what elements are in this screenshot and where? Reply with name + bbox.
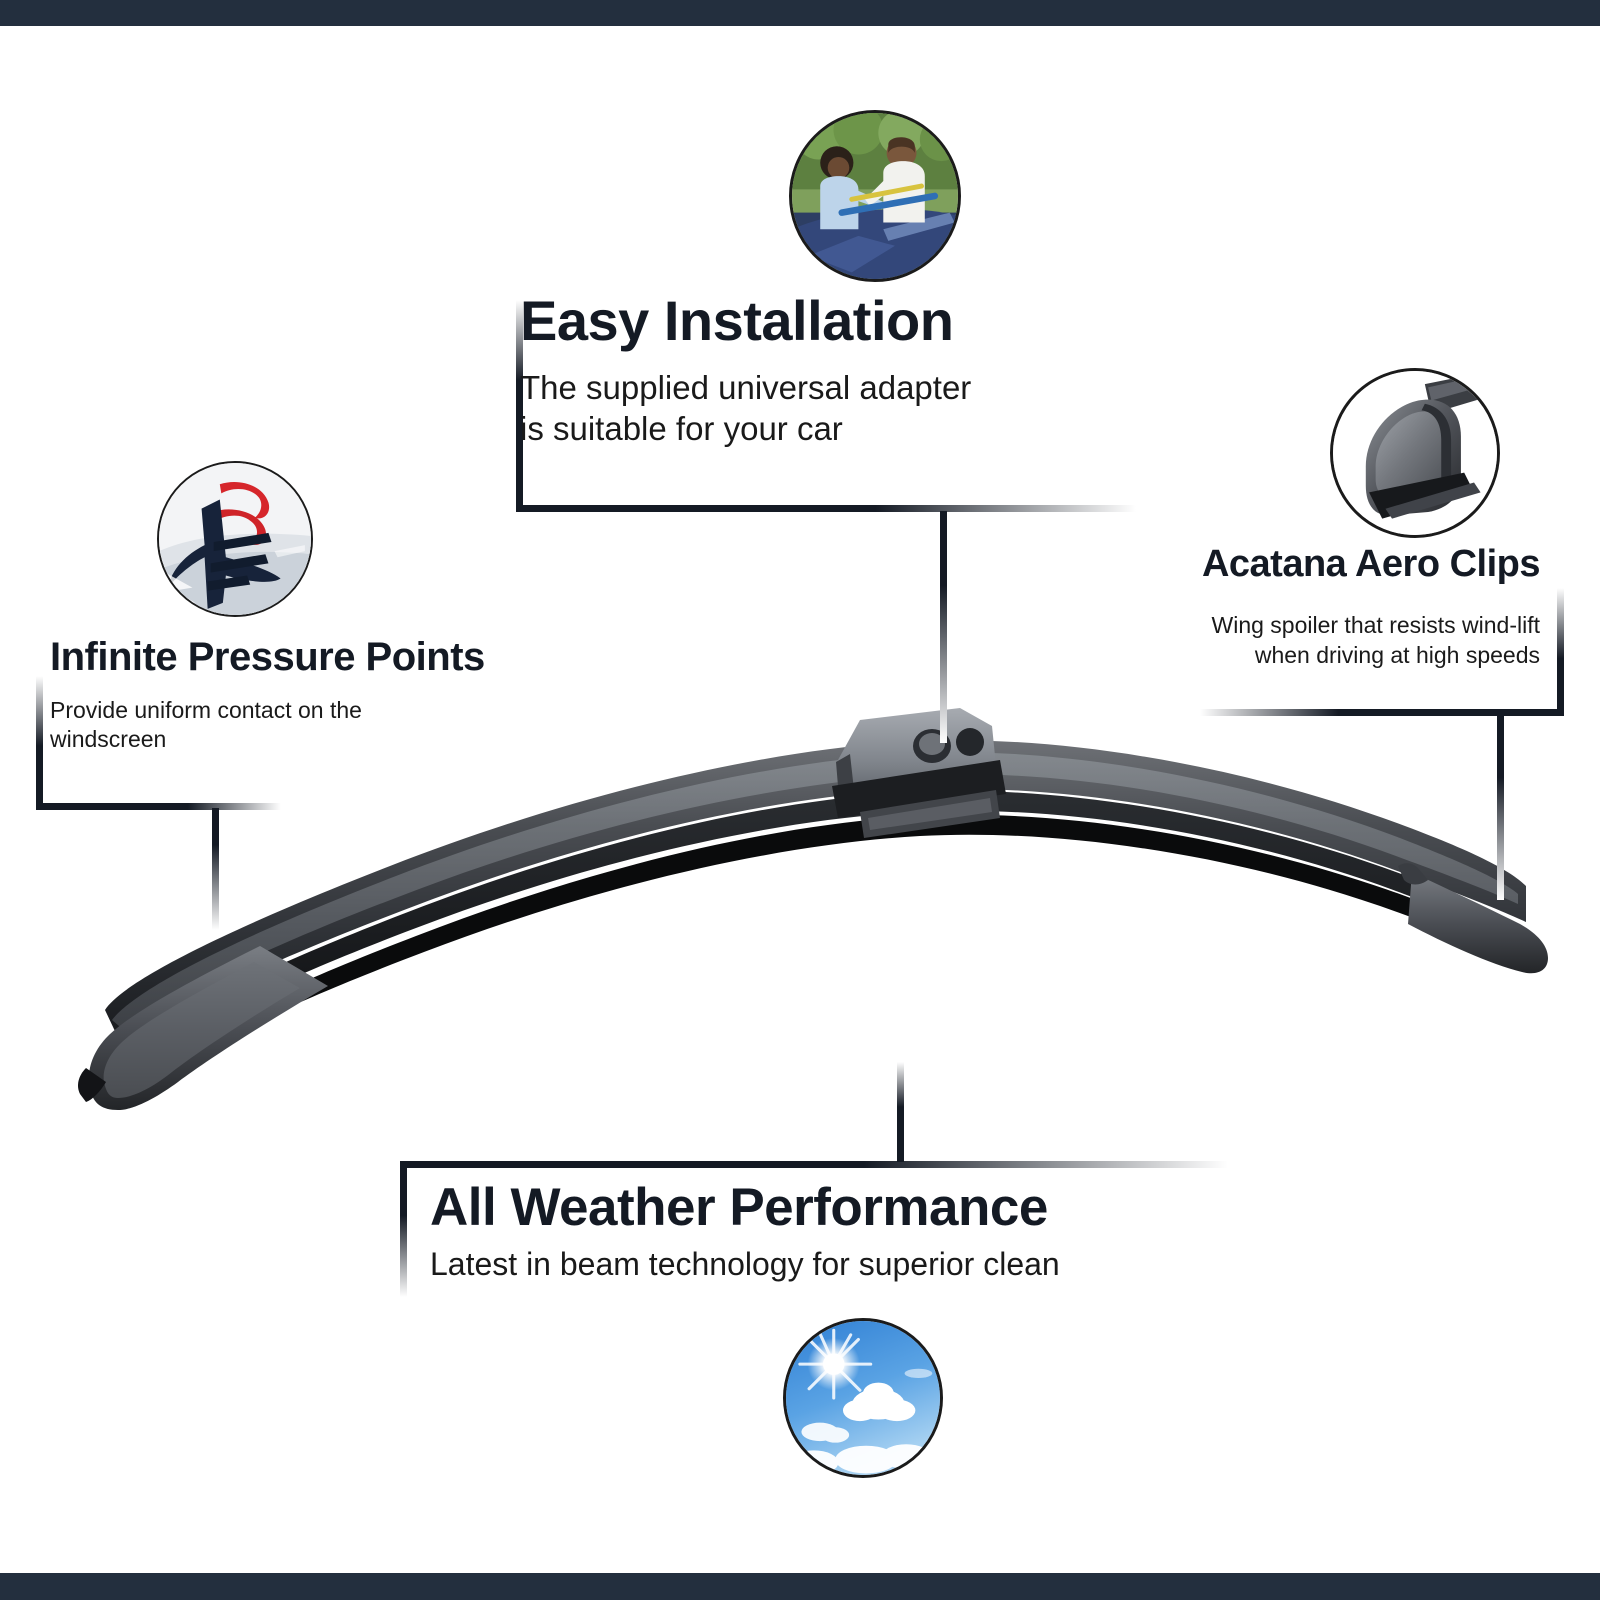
sunny-sky-icon — [783, 1318, 943, 1478]
installation-photo-icon — [789, 110, 961, 282]
all-weather-bracket-vertical — [400, 1161, 407, 1297]
infographic-page: Easy Installation The supplied universal… — [0, 0, 1600, 1600]
infinite-pressure-bracket-horizontal — [36, 803, 281, 810]
feature-body-line-2: is suitable for your car — [520, 408, 1160, 449]
feature-body-easy-installation: The supplied universal adapter is suitab… — [520, 367, 1160, 450]
feature-body-line-1: Wing spoiler that resists wind-lift — [1040, 611, 1540, 641]
feature-body-line-2: windscreen — [50, 725, 690, 754]
infinite-pressure-leader-line — [212, 808, 219, 930]
feature-heading-all-weather-performance: All Weather Performance — [430, 1180, 1310, 1236]
all-weather-leader-line — [897, 1062, 904, 1162]
pressure-diagram-icon — [157, 461, 313, 617]
feature-heading-easy-installation: Easy Installation — [520, 292, 1160, 351]
feature-easy-installation: Easy Installation The supplied universal… — [520, 292, 1160, 449]
top-accent-bar — [0, 0, 1600, 26]
feature-body-line-1: The supplied universal adapter — [520, 367, 1160, 408]
feature-body-infinite-pressure-points: Provide uniform contact on the windscree… — [50, 696, 690, 754]
infinite-pressure-bracket-vertical — [36, 676, 43, 810]
aero-clip-closeup-icon — [1330, 368, 1500, 538]
feature-all-weather-performance: All Weather Performance Latest in beam t… — [430, 1180, 1310, 1284]
feature-body-all-weather-performance: Latest in beam technology for superior c… — [430, 1244, 1310, 1284]
feature-heading-infinite-pressure-points: Infinite Pressure Points — [50, 636, 690, 678]
feature-body-line-1: Provide uniform contact on the — [50, 696, 690, 725]
feature-infinite-pressure-points: Infinite Pressure Points Provide uniform… — [50, 636, 690, 754]
bottom-accent-bar — [0, 1573, 1600, 1600]
easy-installation-bracket-horizontal — [516, 505, 1136, 512]
aero-clips-leader-line — [1497, 714, 1504, 900]
all-weather-bracket-horizontal — [400, 1161, 1228, 1168]
easy-installation-leader-line — [940, 511, 947, 743]
aero-clips-bracket-vertical — [1557, 588, 1564, 716]
feature-acatana-aero-clips: Acatana Aero Clips Wing spoiler that res… — [1040, 545, 1540, 671]
feature-body-acatana-aero-clips: Wing spoiler that resists wind-lift when… — [1040, 611, 1540, 671]
feature-body-line-2: when driving at high speeds — [1040, 641, 1540, 671]
aero-clips-bracket-horizontal — [1200, 709, 1564, 716]
feature-heading-acatana-aero-clips: Acatana Aero Clips — [1040, 545, 1540, 585]
